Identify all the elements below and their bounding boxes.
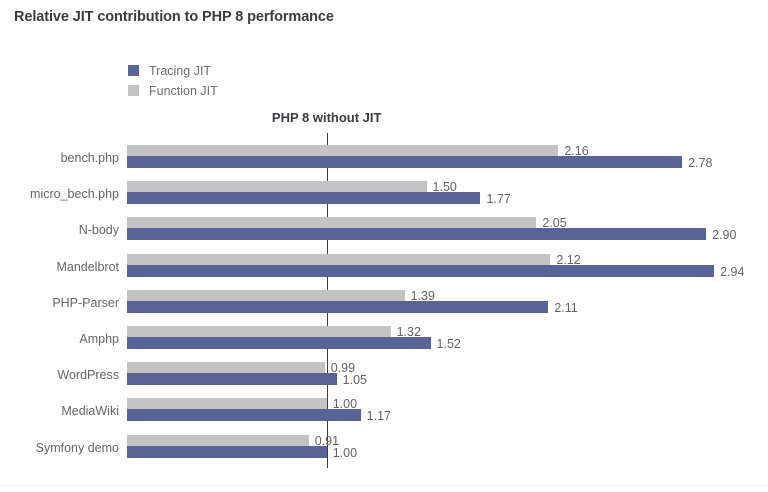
category-label: MediaWiki: [61, 405, 119, 418]
bar-function-jit[interactable]: [127, 326, 391, 337]
bar-function-jit[interactable]: [127, 145, 558, 156]
bar-function-jit[interactable]: [127, 435, 309, 446]
bar-group: MediaWiki1.001.17: [0, 398, 768, 422]
category-label: Amphp: [79, 333, 119, 346]
bar-value-label: 1.52: [437, 338, 461, 351]
bar-tracing-jit[interactable]: [127, 228, 706, 240]
bar-tracing-jit[interactable]: [127, 192, 480, 204]
bar-value-label: 1.77: [486, 193, 510, 206]
category-label: WordPress: [57, 369, 119, 382]
category-label: N-body: [79, 224, 119, 237]
category-label: Mandelbrot: [56, 261, 119, 274]
bar-group: micro_bech.php1.501.77: [0, 181, 768, 205]
bar-tracing-jit[interactable]: [127, 156, 682, 168]
bar-function-jit[interactable]: [127, 181, 427, 192]
bar-group: N-body2.052.90: [0, 217, 768, 241]
category-label: PHP-Parser: [52, 297, 119, 310]
bar-value-label: 2.11: [554, 302, 577, 315]
bar-function-jit[interactable]: [127, 290, 405, 301]
bar-value-label: 1.00: [333, 447, 357, 460]
bottom-divider: [0, 485, 768, 486]
bar-tracing-jit[interactable]: [127, 409, 361, 421]
chart-plot-area: bench.php2.162.78micro_bech.php1.501.77N…: [0, 0, 768, 492]
bar-group: bench.php2.162.78: [0, 145, 768, 169]
bar-function-jit[interactable]: [127, 362, 325, 373]
bar-tracing-jit[interactable]: [127, 373, 337, 385]
bar-function-jit[interactable]: [127, 217, 536, 228]
bar-value-label: 1.05: [343, 374, 367, 387]
bar-value-label: 2.90: [712, 229, 736, 242]
bar-group: Amphp1.321.52: [0, 326, 768, 350]
bar-group: Mandelbrot2.122.94: [0, 254, 768, 278]
bar-group: WordPress0.991.05: [0, 362, 768, 386]
bar-group: PHP-Parser1.392.11: [0, 290, 768, 314]
bar-value-label: 2.94: [720, 266, 744, 279]
bar-value-label: 2.78: [688, 157, 712, 170]
bar-group: Symfony demo0.911.00: [0, 435, 768, 459]
bar-function-jit[interactable]: [127, 254, 550, 265]
category-label: bench.php: [61, 152, 119, 165]
bar-value-label: 1.17: [367, 410, 391, 423]
bar-tracing-jit[interactable]: [127, 301, 548, 313]
bar-tracing-jit[interactable]: [127, 446, 327, 458]
bar-tracing-jit[interactable]: [127, 337, 431, 349]
category-label: micro_bech.php: [30, 188, 119, 201]
category-label: Symfony demo: [36, 442, 119, 455]
bar-tracing-jit[interactable]: [127, 265, 714, 277]
bar-function-jit[interactable]: [127, 398, 327, 409]
